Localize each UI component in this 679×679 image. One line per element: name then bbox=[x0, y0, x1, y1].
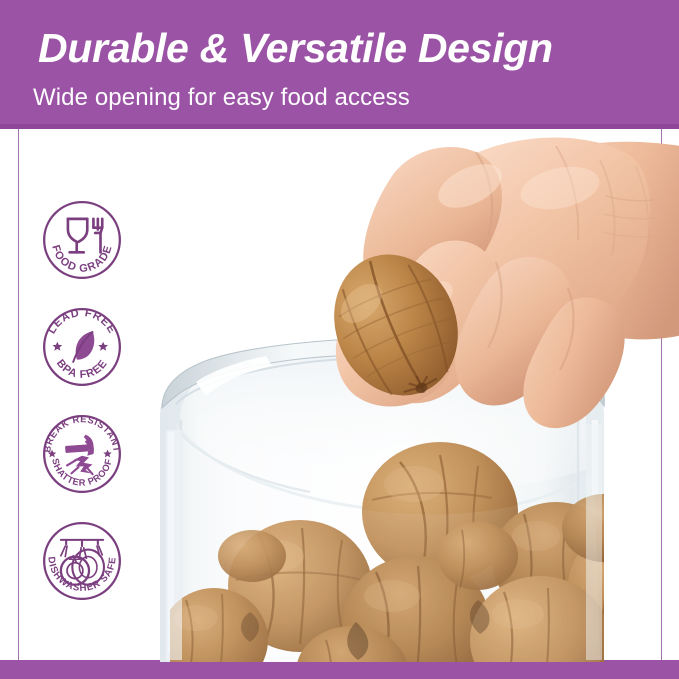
footer-banner bbox=[0, 660, 679, 679]
header-banner: Durable & Versatile Design Wide opening … bbox=[0, 0, 679, 129]
badge-lead-free-bpa-free: LEAD FREE BPA FREE bbox=[38, 303, 126, 391]
product-feature-image: FOOD GRADE LEAD FREE bbox=[0, 0, 679, 679]
badge-food-grade: FOOD GRADE bbox=[38, 196, 126, 284]
frame-line-left bbox=[18, 129, 19, 661]
badge-bpa-free-bottom-text: BPA FREE bbox=[54, 357, 110, 381]
frame-line-right bbox=[661, 129, 662, 661]
page-title: Durable & Versatile Design bbox=[38, 25, 553, 71]
badge-lead-free-top-text: LEAD FREE bbox=[46, 307, 118, 336]
badge-break-resistant: BREAK RESISTANT SHATTER PROOF bbox=[38, 410, 126, 498]
certification-badges: FOOD GRADE LEAD FREE bbox=[38, 196, 130, 605]
page-subtitle: Wide opening for easy food access bbox=[33, 83, 410, 113]
badge-dishwasher-safe: DISHWASHER SAFE bbox=[38, 517, 126, 605]
